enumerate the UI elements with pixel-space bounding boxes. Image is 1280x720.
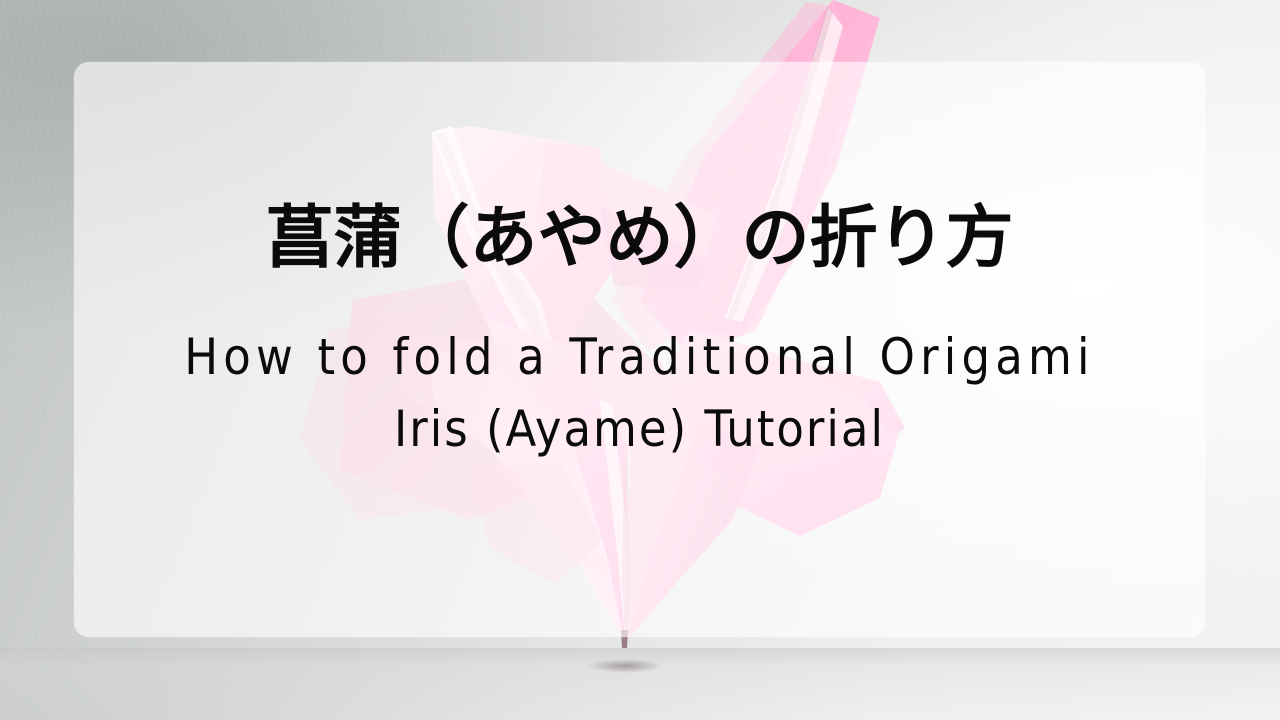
page-title-japanese: 菖蒲（あやめ）の折り方 [265,205,1013,273]
subtitle-line-2: Iris (Ayame) Tutorial [394,393,885,465]
subtitle-line-1: How to fold a Traditional Origami [184,321,1095,393]
title-text-block: 菖蒲（あやめ）の折り方 How to fold a Traditional Or… [74,62,1205,637]
video-thumbnail: 菖蒲（あやめ）の折り方 How to fold a Traditional Or… [0,0,1280,720]
